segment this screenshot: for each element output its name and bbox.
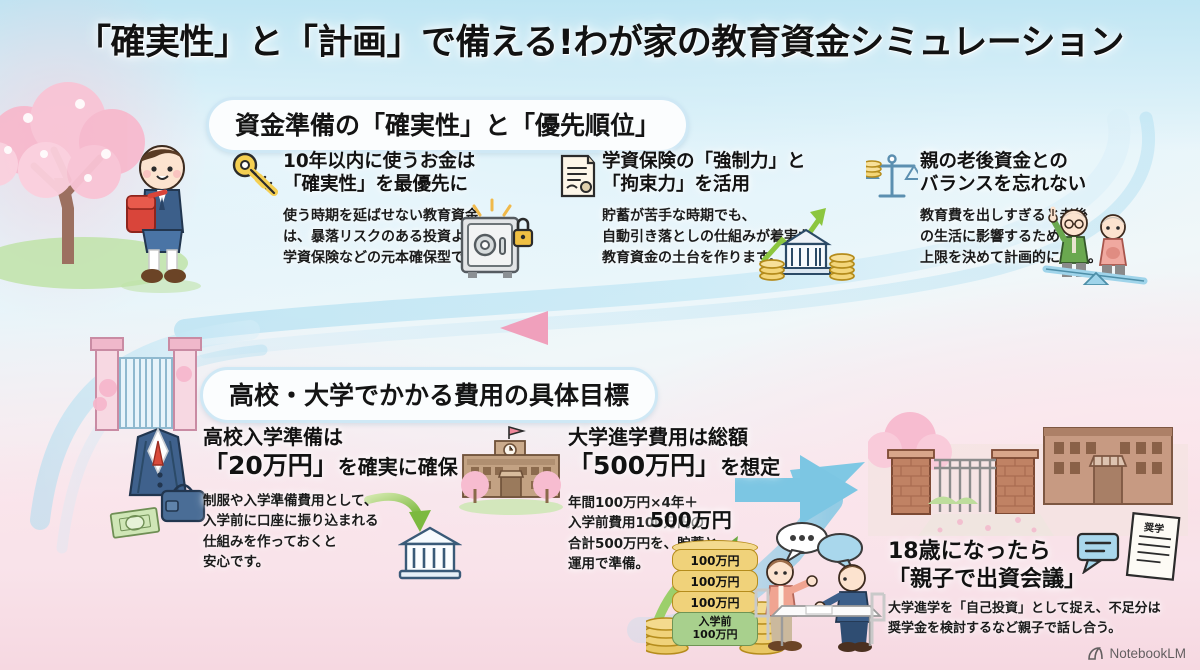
card-a-body-1: 使う時期を延ばせない教育資金 bbox=[283, 206, 479, 226]
card-d-heading-1: 高校入学準備は bbox=[203, 425, 458, 450]
page-title: 「確実性」と「計画」で備える!わが家の教育資金シミュレーション bbox=[0, 14, 1200, 65]
card-d-heading-tail: を確実に確保 bbox=[338, 455, 458, 479]
notebooklm-icon bbox=[1087, 646, 1104, 661]
family-meeting-icon bbox=[748, 520, 898, 660]
card-c-heading-2: バランスを忘れない bbox=[920, 173, 1102, 196]
scholarship-document-icon: 奨学 bbox=[1124, 512, 1192, 584]
schoolboy-randoseru-icon bbox=[105, 140, 215, 295]
card-f-body-2: 奨学金を検討するなど親子で話し合う。 bbox=[888, 620, 1161, 639]
card-a-body-2: は、暴落リスクのある投資より bbox=[283, 227, 479, 247]
card-certainty: 10年以内に使うお金は 「確実性」を最優先に 使う時期を延ばせない教育資金 は、… bbox=[283, 150, 479, 268]
card-a-heading-1: 10年以内に使うお金は bbox=[283, 150, 479, 173]
card-e-amount: 「500万円」 bbox=[568, 451, 720, 480]
coin-label-3: 100万円 bbox=[672, 591, 758, 613]
school-uniform-bag-icon bbox=[108, 425, 208, 550]
chat-bubble-icon bbox=[1074, 528, 1124, 574]
safe-with-lock-icon bbox=[452, 196, 536, 282]
card-e-heading-tail: を想定 bbox=[720, 455, 780, 479]
bank-growth-coins-icon bbox=[758, 196, 856, 284]
infographic-canvas: 「確実性」と「計画」で備える!わが家の教育資金シミュレーション 資金準備の「確実… bbox=[0, 0, 1200, 670]
key-icon bbox=[232, 152, 280, 196]
card-d-amount: 「20万円」 bbox=[203, 451, 338, 480]
coin-pre-entry-line2: 100万円 bbox=[693, 629, 738, 642]
card-a-heading-2: 「確実性」を最優先に bbox=[283, 173, 479, 196]
school-gate-icon bbox=[78, 330, 218, 440]
section-header-cost-targets: 高校・大学でかかる費用の具体目標 bbox=[200, 367, 658, 423]
card-f-body-1: 大学進学を「自己投資」として捉え、不足分は bbox=[888, 600, 1161, 619]
card-b-heading-2: 「拘束力」を活用 bbox=[602, 173, 812, 196]
certificate-document-icon bbox=[556, 152, 600, 200]
card-b-heading-1: 学資保険の「強制力」と bbox=[602, 150, 812, 173]
card-d-body-1: 制服や入学準備費用として、 bbox=[203, 492, 458, 512]
card-e-heading-1: 大学進学費用は総額 bbox=[568, 425, 780, 450]
bank-building-icon bbox=[398, 524, 462, 580]
card-a-body-3: 学資保険などの元本確保型で。 bbox=[283, 248, 479, 268]
school-building-icon bbox=[455, 423, 567, 515]
coin-pre-entry: 入学前 100万円 bbox=[672, 612, 758, 646]
coin-label-1: 100万円 bbox=[672, 549, 758, 571]
coin-label-2: 100万円 bbox=[672, 570, 758, 592]
balance-scale-icon bbox=[866, 152, 918, 202]
elderly-couple-seesaw-icon bbox=[1040, 205, 1150, 285]
watermark: NotebookLM bbox=[1087, 646, 1186, 661]
section-header-funding-certainty: 資金準備の「確実性」と「優先順位」 bbox=[206, 97, 689, 153]
card-c-heading-1: 親の老後資金との bbox=[920, 150, 1102, 173]
watermark-label: NotebookLM bbox=[1109, 646, 1186, 661]
